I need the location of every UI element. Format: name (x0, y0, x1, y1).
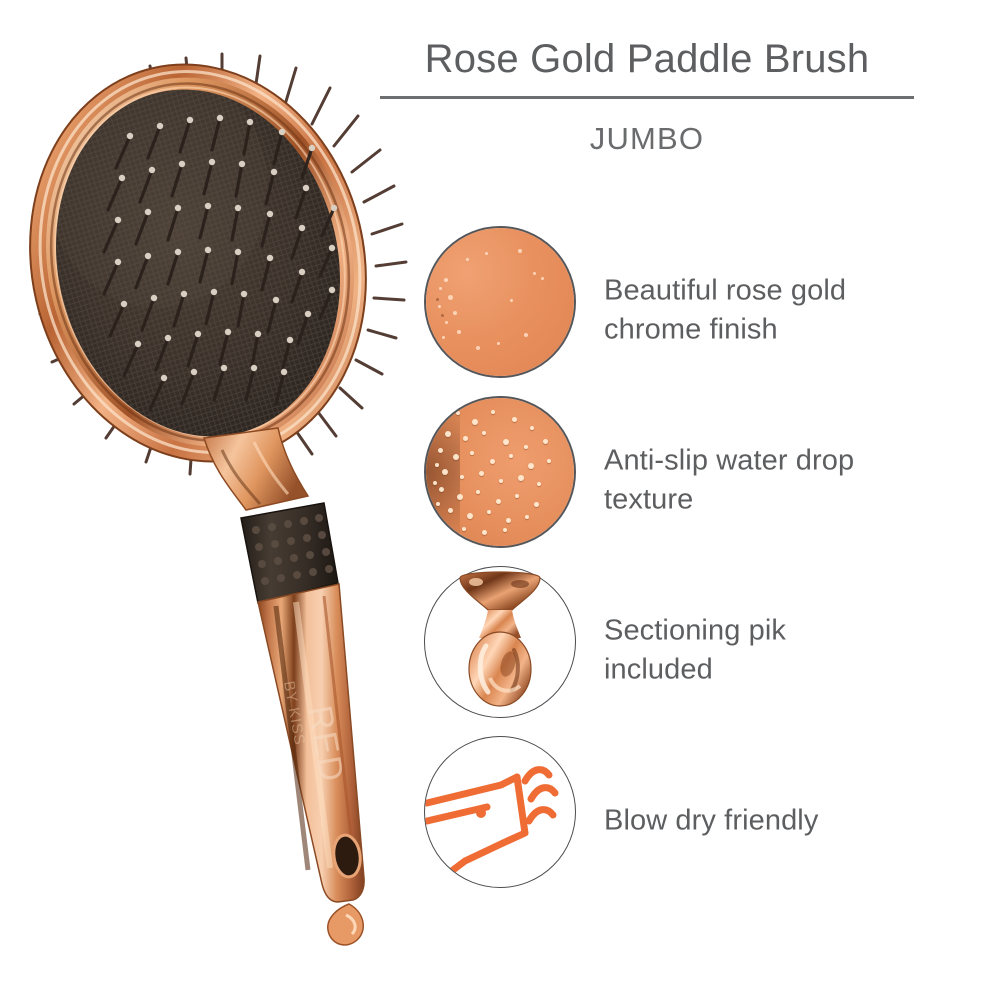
feature-label-line1: Anti-slip water drop (604, 442, 944, 481)
feature-label-chrome-finish: Beautiful rose gold chrome finish (604, 272, 944, 351)
feature-label-sectioning-pik: Sectioning pik included (604, 612, 944, 691)
product-subtitle: JUMBO (380, 121, 914, 157)
chrome-finish-swatch (426, 228, 574, 376)
sectioning-pik-badge (424, 566, 576, 718)
product-image-paddle-brush: RED BY KISS (8, 18, 408, 968)
feature-label-line2: chrome finish (604, 311, 944, 350)
title-block: Rose Gold Paddle Brush JUMBO (380, 36, 914, 157)
water-drop-texture-swatch-badge (424, 396, 576, 548)
chrome-finish-swatch-badge (424, 226, 576, 378)
feature-label-line2: texture (604, 481, 944, 520)
feature-label-blow-dry-friendly: Blow dry friendly (604, 801, 944, 840)
product-infographic: Rose Gold Paddle Brush JUMBO (0, 0, 1000, 1000)
feature-item-chrome-finish: Beautiful rose gold chrome finish (424, 226, 944, 396)
feature-label-line1: Beautiful rose gold (604, 272, 944, 311)
sectioning-pik-icon (424, 566, 576, 718)
brush-head (8, 31, 406, 495)
swatch-disc (424, 396, 576, 548)
brush-illustration: RED BY KISS (8, 18, 408, 968)
feature-list: Beautiful rose gold chrome finish (424, 226, 944, 906)
blow-dryer-icon (425, 737, 576, 888)
feature-item-sectioning-pik: Sectioning pik included (424, 566, 944, 736)
feature-label-line2: included (604, 651, 944, 690)
swatch-disc (424, 226, 576, 378)
page-title: Rose Gold Paddle Brush (380, 36, 914, 82)
handle-finial (328, 904, 363, 945)
title-divider (380, 96, 914, 99)
feature-item-blow-dry-friendly: Blow dry friendly (424, 736, 944, 906)
pik-top-flare (460, 572, 540, 610)
badge-disc-outline (424, 736, 576, 888)
blow-dryer-badge (424, 736, 576, 888)
feature-label-line1: Sectioning pik (604, 612, 944, 651)
feature-item-water-drop-texture: Anti-slip water drop texture (424, 396, 944, 566)
brush-handle: RED BY KISS (258, 584, 364, 945)
feature-label-water-drop-texture: Anti-slip water drop texture (604, 442, 944, 521)
feature-label-line1: Blow dry friendly (604, 801, 944, 840)
